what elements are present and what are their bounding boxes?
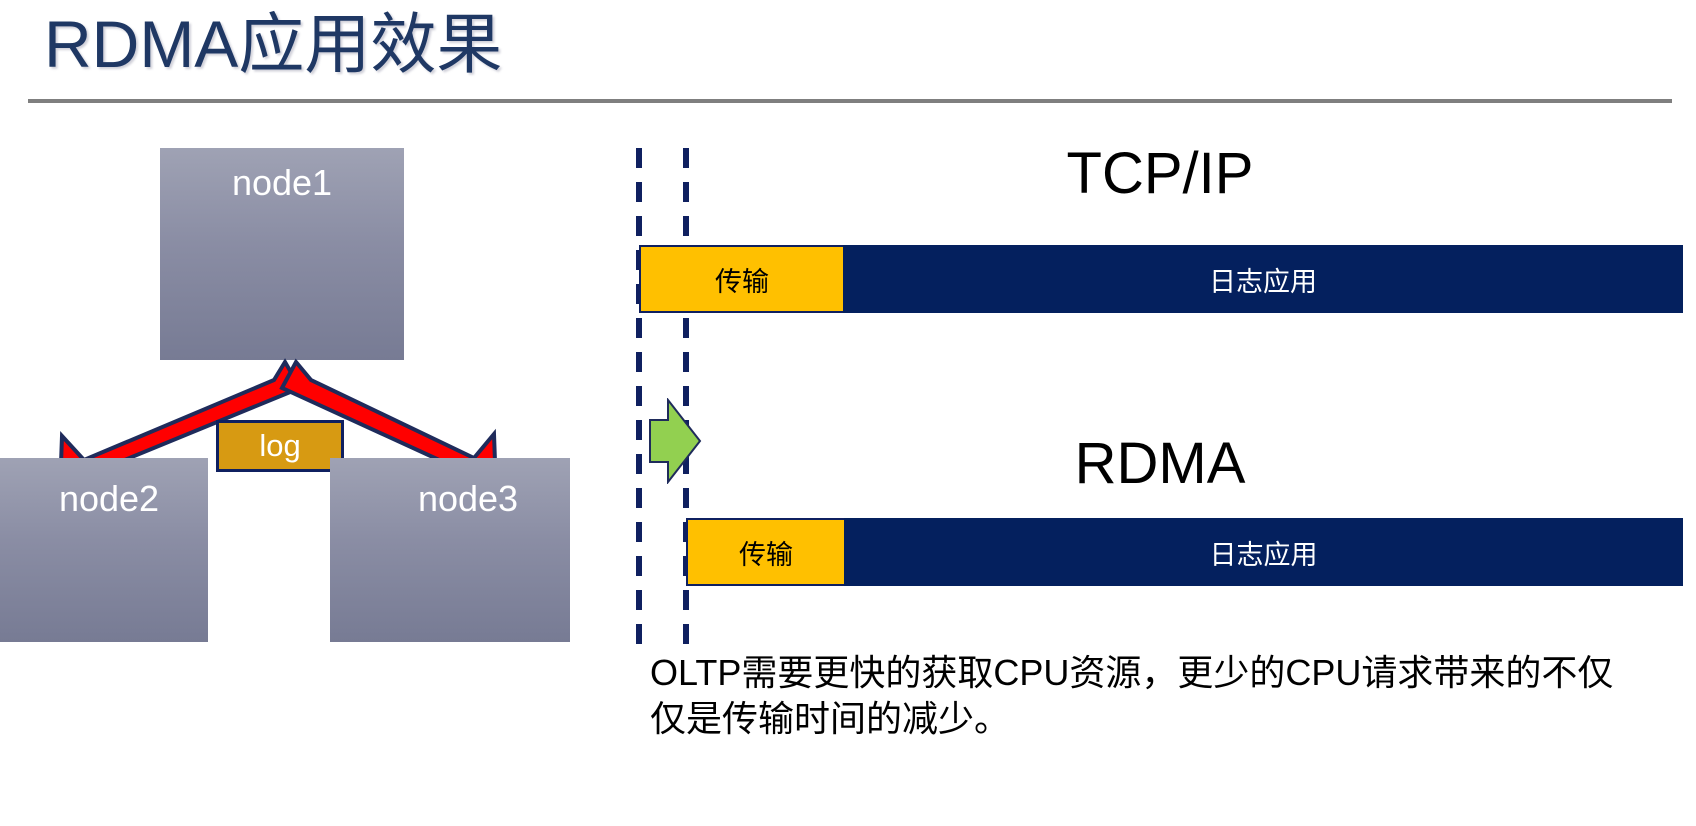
tcpip-apply-segment: 日志应用 [843, 245, 1683, 313]
slide-canvas: RDMA应用效果 node1 log node2 node3 TCP/IP 传输… [0, 0, 1696, 826]
rdma-transfer-segment: 传输 [686, 518, 846, 586]
node3-label: node3 [382, 478, 518, 520]
caption-text: OLTP需要更快的获取CPU资源，更少的CPU请求带来的不仅仅是传输时间的减少。 [650, 650, 1630, 742]
log-label: log [259, 428, 300, 463]
cluster-node2-box: node2 [0, 458, 208, 642]
protocol-label-tcpip: TCP/IP [900, 140, 1420, 207]
node1-label: node1 [232, 162, 332, 203]
title-divider [28, 99, 1672, 103]
cluster-node1-box: node1 [160, 148, 404, 360]
page-title: RDMA应用效果 [44, 2, 502, 86]
timeline-marker-start [636, 148, 642, 646]
timeline-bar-tcpip: 传输 日志应用 [639, 245, 1683, 313]
rdma-apply-segment: 日志应用 [844, 518, 1683, 586]
timeline-bar-rdma: 传输 日志应用 [686, 518, 1683, 586]
time-saving-arrow [648, 398, 704, 484]
rdma-transfer-label: 传输 [739, 533, 793, 572]
tcpip-apply-label: 日志应用 [1209, 260, 1317, 299]
log-box: log [216, 420, 344, 472]
node2-label: node2 [47, 478, 159, 520]
tcpip-transfer-segment: 传输 [639, 245, 845, 313]
tcpip-transfer-label: 传输 [715, 260, 769, 299]
cluster-node3-box: node3 [330, 458, 570, 642]
protocol-label-rdma: RDMA [900, 430, 1420, 497]
rdma-apply-label: 日志应用 [1210, 533, 1318, 572]
